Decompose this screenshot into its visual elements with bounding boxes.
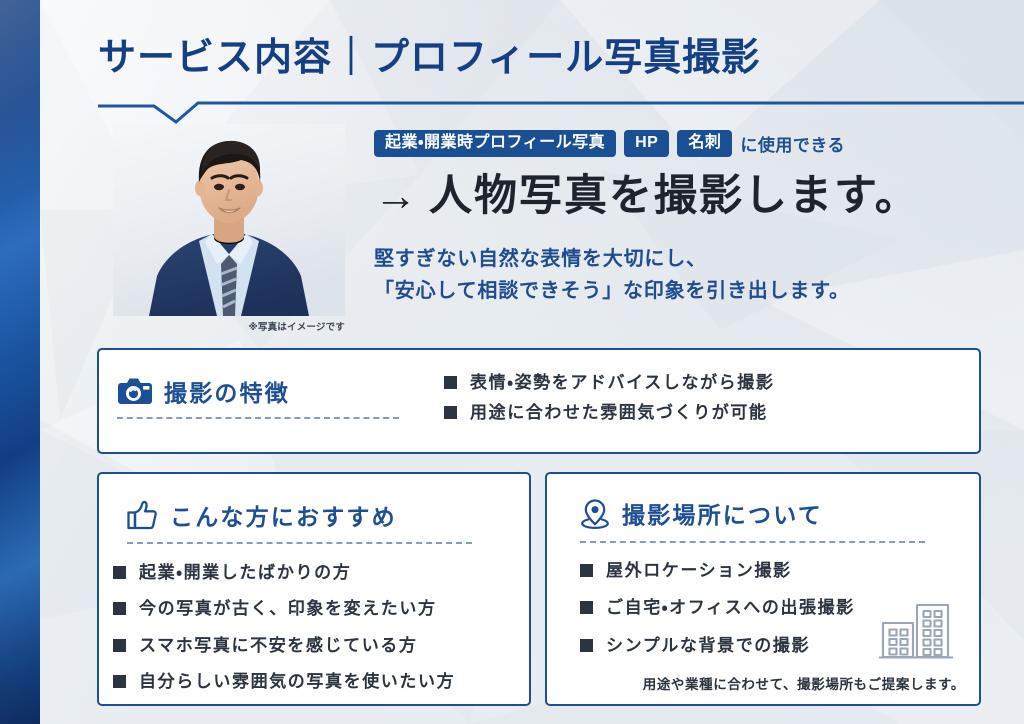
recommend-item-text: 自分らしい雰囲気の写真を使いたい方 xyxy=(139,671,455,692)
location-item-text: 屋外ロケーション撮影 xyxy=(606,560,792,581)
features-item-text: 用途に合わせた雰囲気づくりが可能 xyxy=(470,402,768,423)
hero-subtext-line-1: 堅すぎない自然な表情を大切にし、 xyxy=(374,243,994,275)
square-bullet-icon xyxy=(444,376,457,389)
photo-caption: ※写真はイメージです xyxy=(113,319,345,333)
hero-text-block: 起業・開業時プロフィール写真 HP 名刺 に使用できる →人物写真を撮影します。… xyxy=(374,130,994,308)
card-shooting-features: 撮影の特徴 表情・姿勢をアドバイスしながら撮影 用途に合わせた雰囲気づくりが可能 xyxy=(97,348,981,454)
page-title: サービス内容｜プロフィール写真撮影 xyxy=(98,36,1024,81)
badge-business-card: 名刺 xyxy=(677,130,732,157)
square-bullet-icon xyxy=(580,564,593,577)
badge-tail-text: に使用できる xyxy=(740,131,845,156)
business-portrait-photo xyxy=(113,124,345,316)
features-item-text: 表情・姿勢をアドバイスしながら撮影 xyxy=(470,372,774,393)
recommend-list: 起業・開業したばかりの方 今の写真が古く、印象を変えたい方 スマホ写真に不安を感… xyxy=(113,562,529,692)
office-buildings-icon xyxy=(877,600,957,662)
thumbs-up-icon xyxy=(125,499,159,531)
location-heading-group: 撮影場所について xyxy=(579,496,979,530)
square-bullet-icon xyxy=(580,639,593,652)
recommend-item-text: 今の写真が古く、印象を変えたい方 xyxy=(139,598,437,619)
features-list: 表情・姿勢をアドバイスしながら撮影 用途に合わせた雰囲気づくりが可能 xyxy=(444,372,774,433)
list-item: 自分らしい雰囲気の写真を使いたい方 xyxy=(113,671,529,692)
features-divider xyxy=(117,417,399,419)
features-title: 撮影の特徴 xyxy=(164,374,290,408)
location-item-text: シンプルな背景での撮影 xyxy=(606,635,810,656)
list-item: 表情・姿勢をアドバイスしながら撮影 xyxy=(444,372,774,393)
page-header: サービス内容｜プロフィール写真撮影 xyxy=(98,36,1024,81)
square-bullet-icon xyxy=(580,601,593,614)
location-title: 撮影場所について xyxy=(622,496,823,530)
badge-row: 起業・開業時プロフィール写真 HP 名刺 に使用できる xyxy=(374,130,994,157)
hero-photo-block: ※写真はイメージです xyxy=(113,124,345,333)
recommend-item-text: 起業・開業したばかりの方 xyxy=(139,562,351,583)
location-note: 用途や業種に合わせて、撮影場所もご提案します。 xyxy=(547,673,965,693)
recommend-heading-group: こんな方におすすめ xyxy=(125,498,529,532)
location-divider xyxy=(580,541,925,543)
camera-icon xyxy=(117,377,153,405)
badge-profile-photo: 起業・開業時プロフィール写真 xyxy=(374,130,616,157)
badge-hp: HP xyxy=(624,130,669,157)
square-bullet-icon xyxy=(113,566,126,579)
left-accent-stripe xyxy=(0,0,40,724)
list-item: 用途に合わせた雰囲気づくりが可能 xyxy=(444,402,774,423)
recommend-item-text: スマホ写真に不安を感じている方 xyxy=(139,635,418,656)
square-bullet-icon xyxy=(113,602,126,615)
list-item: 屋外ロケーション撮影 xyxy=(580,560,979,581)
recommend-divider xyxy=(127,542,472,544)
slide-canvas: サービス内容｜プロフィール写真撮影 xyxy=(0,0,1024,724)
features-heading-group: 撮影の特徴 xyxy=(117,374,407,419)
card-recommended-for: こんな方におすすめ 起業・開業したばかりの方 今の写真が古く、印象を変えたい方 … xyxy=(97,472,531,706)
arrow-right-icon: → xyxy=(374,172,419,220)
location-pin-icon xyxy=(579,497,611,529)
location-item-text: ご自宅・オフィスへの出張撮影 xyxy=(606,597,855,618)
list-item: 今の写真が古く、印象を変えたい方 xyxy=(113,598,529,619)
list-item: 起業・開業したばかりの方 xyxy=(113,562,529,583)
hero-headline: →人物写真を撮影します。 xyxy=(374,171,994,223)
square-bullet-icon xyxy=(113,675,126,688)
title-underline-rule xyxy=(98,94,1024,128)
hero-subtext-line-2: 「安心して相談できそう」な印象を引き出します。 xyxy=(374,275,994,307)
hero-headline-text: 人物写真を撮影します。 xyxy=(429,172,920,220)
card-shooting-location: 撮影場所について 屋外ロケーション撮影 ご自宅・オフィスへの出張撮影 シンプルな… xyxy=(545,472,981,706)
square-bullet-icon xyxy=(444,406,457,419)
hero-subtext: 堅すぎない自然な表情を大切にし、 「安心して相談できそう」な印象を引き出します。 xyxy=(374,243,994,308)
recommend-title: こんな方におすすめ xyxy=(170,498,397,532)
list-item: スマホ写真に不安を感じている方 xyxy=(113,635,529,656)
square-bullet-icon xyxy=(113,639,126,652)
